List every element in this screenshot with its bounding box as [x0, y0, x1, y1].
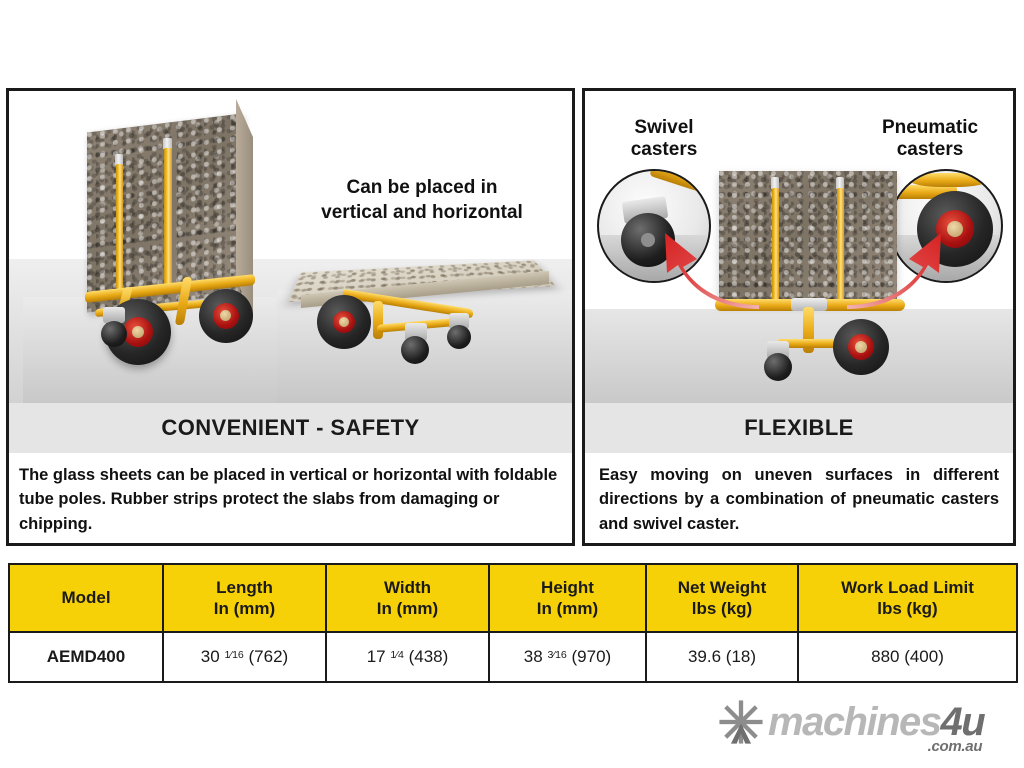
- overlay-note-line2: vertical and horizontal: [287, 201, 557, 226]
- column-header-net-weight: Net Weight lbs (kg): [646, 564, 798, 632]
- header-line2: In (mm): [329, 598, 486, 619]
- swivel-caster-wheel-b: [447, 325, 471, 349]
- header-line2: lbs (kg): [649, 598, 795, 619]
- column-header-length: Length In (mm): [163, 564, 326, 632]
- cell-work-load-limit: 880 (400): [798, 632, 1017, 682]
- cell-net-weight: 39.6 (18): [646, 632, 798, 682]
- pneumatic-wheel-rear: [199, 289, 253, 343]
- header-line1: Height: [492, 577, 643, 598]
- cart-horizontal-image: [277, 241, 572, 403]
- header-line1: Length: [166, 577, 323, 598]
- panel-right-caption: FLEXIBLE: [585, 403, 1013, 453]
- wheel-hub: [855, 341, 867, 353]
- arrow-right-direction: [845, 219, 955, 309]
- panel-convenient-safety: Can be placed in vertical and horizontal: [6, 88, 575, 546]
- overlay-note-line1: Can be placed in: [287, 176, 557, 201]
- cell-height: 38 3⁄16 (970): [489, 632, 646, 682]
- arrow-left-icon: [651, 219, 761, 309]
- wheel-hub: [220, 310, 231, 321]
- swivel-caster-wheel: [764, 353, 792, 381]
- infographic-root: Can be placed in vertical and horizontal: [0, 0, 1024, 768]
- header-line1: Work Load Limit: [801, 577, 1014, 598]
- callout-pneumatic-line2: casters: [855, 139, 1005, 161]
- cell-width: 17 1⁄4 (438): [326, 632, 489, 682]
- wheel-hub: [339, 317, 349, 327]
- pole-left: [772, 188, 779, 310]
- panel-flexible: Swivel casters Pneumatic casters: [582, 88, 1016, 546]
- frame-beam-cross: [373, 301, 383, 339]
- panel-right-body: Easy moving on uneven surfaces in differ…: [585, 453, 1013, 543]
- height-whole: 38: [524, 647, 543, 666]
- arrow-right-icon: [845, 219, 955, 309]
- header-line1: Width: [329, 577, 486, 598]
- pneumatic-wheel-front: [833, 319, 889, 375]
- pole-right: [164, 148, 172, 291]
- swivel-caster-wheel: [101, 321, 127, 347]
- machines4u-logo: machines4u .com.au: [718, 694, 1010, 750]
- specification-table: Model Length In (mm) Width In (mm) Heigh…: [8, 563, 1018, 683]
- inset-frame-top: [909, 173, 989, 187]
- width-fraction: 1⁄4: [390, 649, 403, 661]
- width-whole: 17: [367, 647, 386, 666]
- width-denominator: 4: [398, 649, 404, 661]
- callout-swivel-casters: Swivel casters: [599, 117, 729, 161]
- callout-pneumatic-line1: Pneumatic: [855, 117, 1005, 139]
- height-metric: (970): [572, 647, 612, 666]
- table-header-row: Model Length In (mm) Width In (mm) Heigh…: [9, 564, 1017, 632]
- logo-word-light: machines: [768, 700, 941, 744]
- column-header-height: Height In (mm): [489, 564, 646, 632]
- callout-swivel-line2: casters: [599, 139, 729, 161]
- column-header-work-load-limit: Work Load Limit lbs (kg): [798, 564, 1017, 632]
- callout-swivel-line1: Swivel: [599, 117, 729, 139]
- length-whole: 30: [201, 647, 220, 666]
- header-line1: Net Weight: [649, 577, 795, 598]
- height-denominator: 16: [555, 649, 567, 661]
- panel-left-caption: CONVENIENT - SAFETY: [9, 403, 572, 453]
- length-metric: (762): [249, 647, 289, 666]
- header-line2: lbs (kg): [801, 598, 1014, 619]
- pole-right: [837, 188, 844, 310]
- inset-frame-arm: [649, 169, 711, 197]
- header-line1: Model: [12, 587, 160, 608]
- column-header-model: Model: [9, 564, 163, 632]
- logo-text-group: machines4u .com.au: [768, 702, 984, 742]
- header-line2: In (mm): [166, 598, 323, 619]
- cell-length: 30 1⁄16 (762): [163, 632, 326, 682]
- column-header-width: Width In (mm): [326, 564, 489, 632]
- swivel-caster-wheel-a: [401, 336, 429, 364]
- width-numerator: 1: [390, 649, 396, 661]
- pole-left: [116, 164, 123, 289]
- length-denominator: 16: [232, 649, 244, 661]
- cell-model: AEMD400: [9, 632, 163, 682]
- wheel-hub: [132, 326, 144, 338]
- pneumatic-wheel: [317, 295, 371, 349]
- panel-left-body: The glass sheets can be placed in vertic…: [9, 453, 572, 543]
- logo-tld: .com.au: [928, 738, 983, 755]
- header-line2: In (mm): [492, 598, 643, 619]
- width-metric: (438): [409, 647, 449, 666]
- scene-right: Swivel casters Pneumatic casters: [585, 91, 1013, 403]
- height-fraction: 3⁄16: [547, 649, 566, 661]
- logo-wordmark: machines4u: [768, 702, 984, 742]
- arrow-left-direction: [651, 219, 761, 309]
- starburst-asterisk-icon: [718, 699, 764, 745]
- length-fraction: 1⁄16: [224, 649, 243, 661]
- height-numerator: 3: [547, 649, 553, 661]
- callout-pneumatic-casters: Pneumatic casters: [855, 117, 1005, 161]
- cart-vertical-image: [23, 91, 303, 403]
- scene-left: Can be placed in vertical and horizontal: [9, 91, 572, 403]
- length-numerator: 1: [224, 649, 230, 661]
- overlay-note: Can be placed in vertical and horizontal: [287, 176, 557, 225]
- table-row: AEMD400 30 1⁄16 (762) 17 1⁄4 (438) 38 3⁄…: [9, 632, 1017, 682]
- panel-left-media: Can be placed in vertical and horizontal: [9, 91, 572, 403]
- panel-right-media: Swivel casters Pneumatic casters: [585, 91, 1013, 403]
